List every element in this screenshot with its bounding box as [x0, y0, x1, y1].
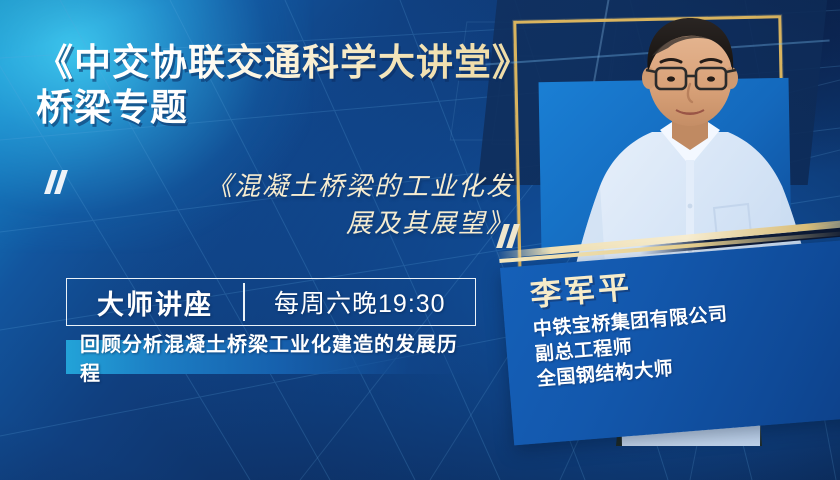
poster-subtitle-line-2: 展及其展望》 — [84, 205, 514, 242]
title-block: 《中交协联交通科学大讲堂》 桥梁专题 — [36, 42, 556, 129]
tagline-bar: 回顾分析混凝土桥梁工业化建造的发展历程 — [66, 340, 478, 374]
quote-close-icon — [500, 224, 526, 250]
lecture-schedule-box: 大师讲座 每周六晚19:30 — [66, 278, 476, 326]
poster-title-line-1: 《中交协联交通科学大讲堂》 — [36, 42, 556, 83]
subtitle-quote-block: 《混凝土桥梁的工业化发 展及其展望》 — [48, 168, 528, 264]
lecture-time: 每周六晚19:30 — [245, 279, 475, 325]
poster-title-line-2: 桥梁专题 — [36, 87, 556, 128]
poster-subtitle: 《混凝土桥梁的工业化发 展及其展望》 — [84, 168, 514, 242]
lecture-poster: 李军平 中铁宝桥集团有限公司 副总工程师 全国钢结构大师 《中交协联交通科学大讲… — [0, 0, 840, 480]
speaker-info-panel: 李军平 中铁宝桥集团有限公司 副总工程师 全国钢结构大师 — [500, 240, 840, 446]
quote-open-icon — [48, 170, 74, 196]
tagline-text: 回顾分析混凝土桥梁工业化建造的发展历程 — [66, 328, 478, 386]
poster-subtitle-line-1: 《混凝土桥梁的工业化发 — [84, 168, 514, 205]
lecture-label: 大师讲座 — [67, 279, 243, 325]
